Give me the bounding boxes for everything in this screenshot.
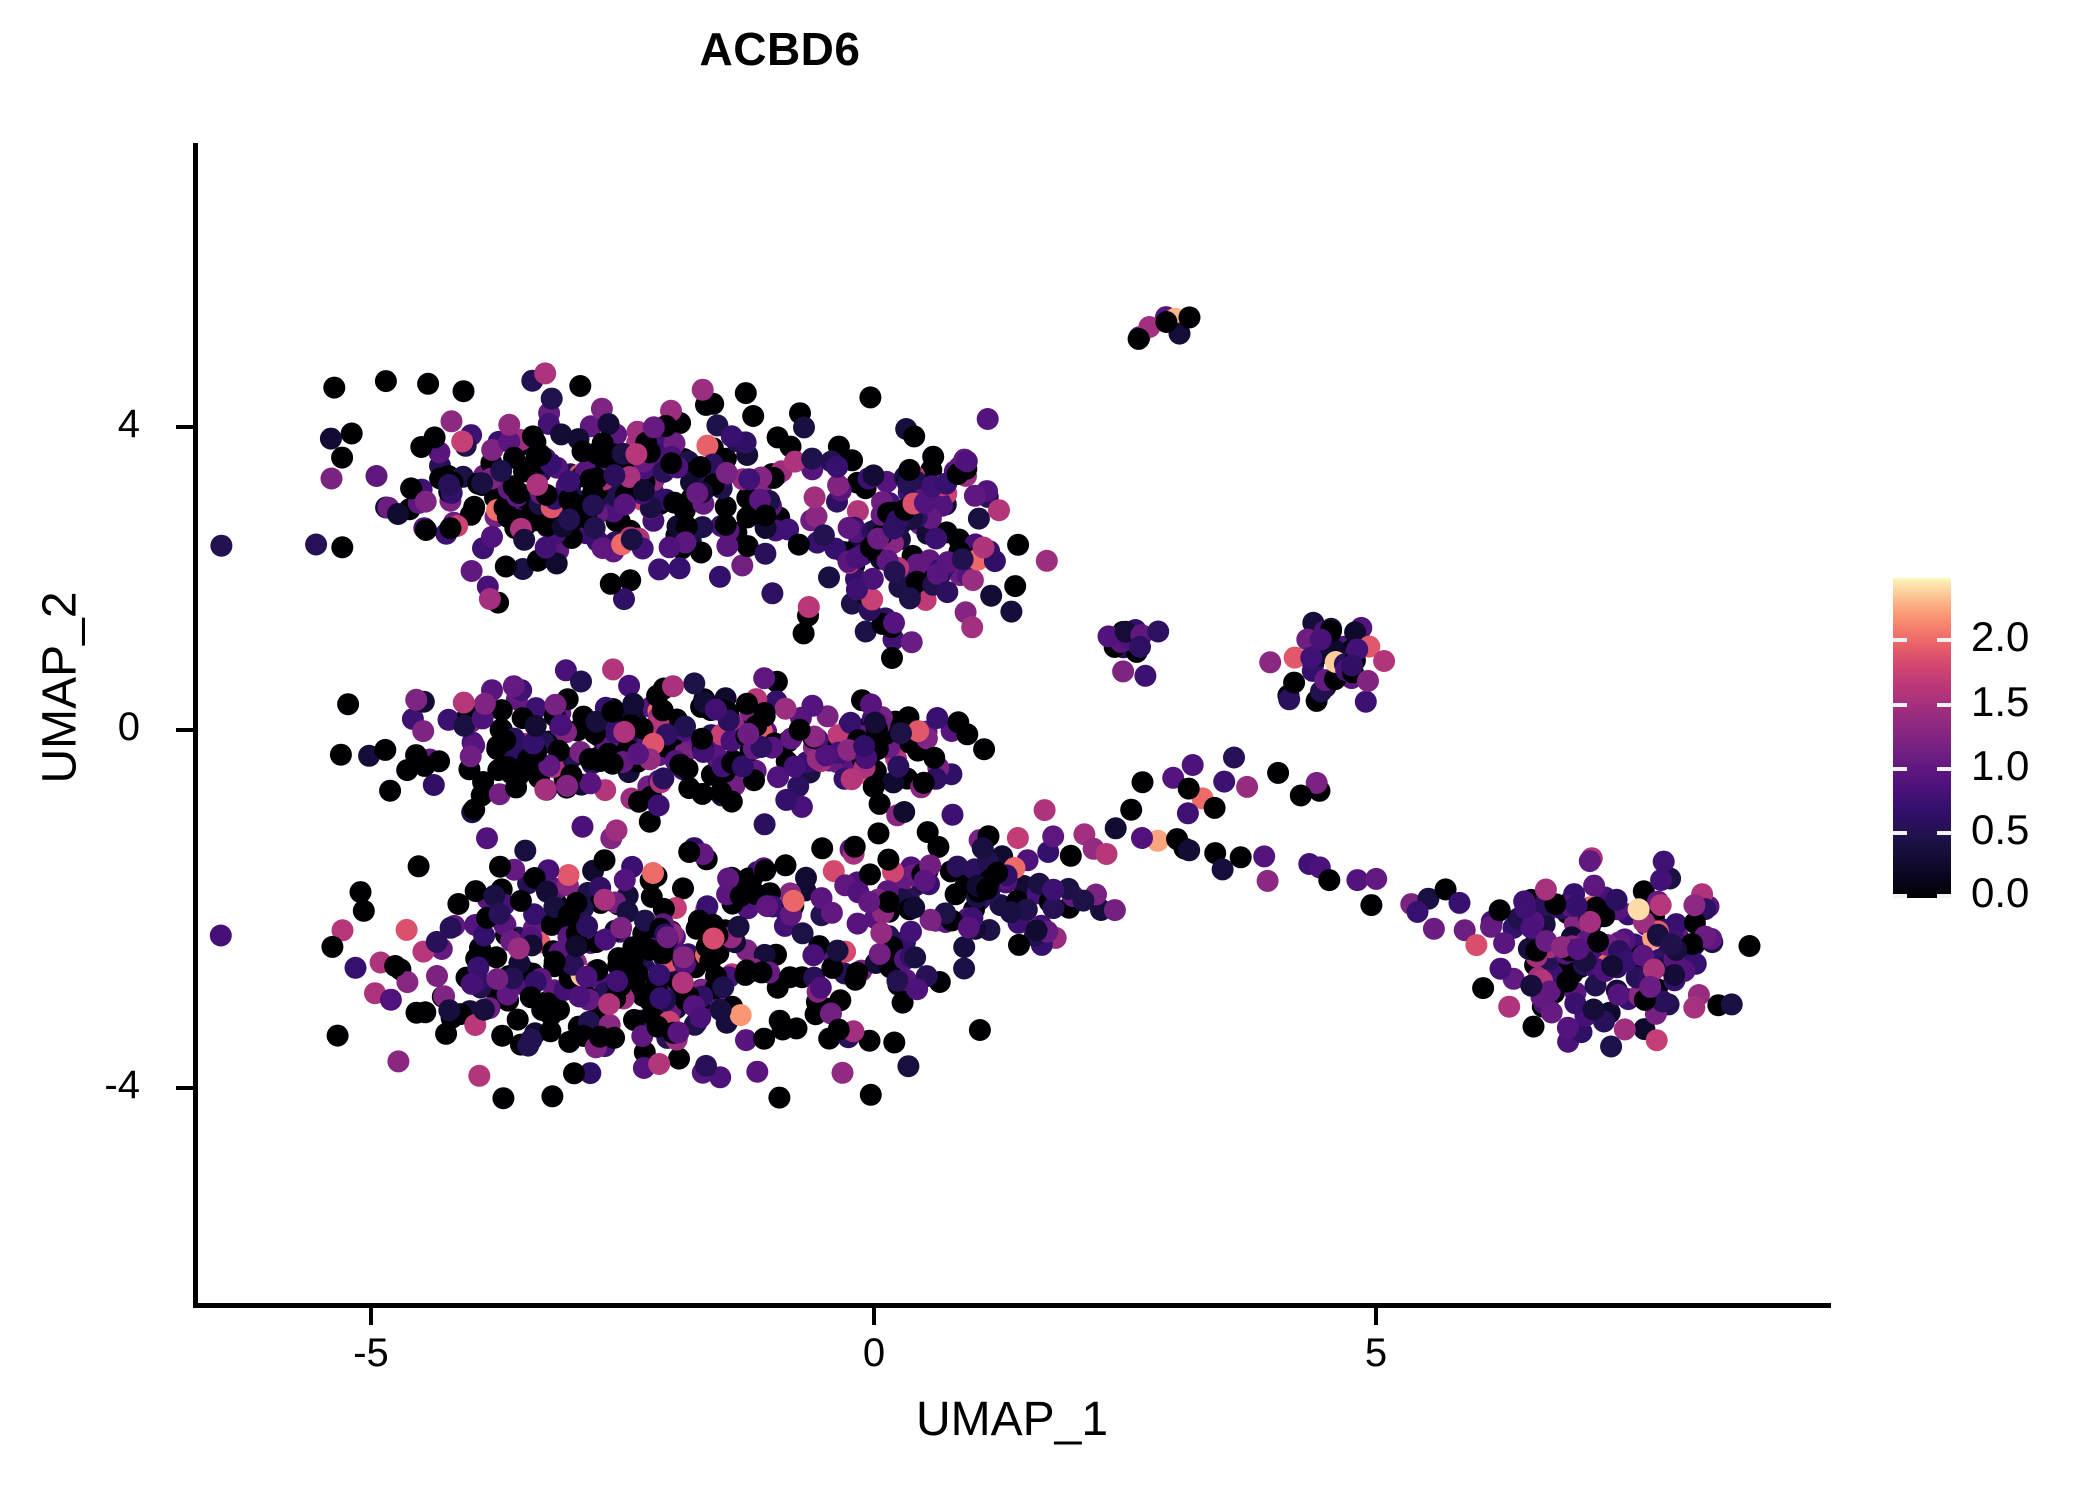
scatter-point: [941, 720, 963, 742]
scatter-point: [536, 881, 558, 903]
scatter-point: [742, 405, 764, 427]
scatter-point: [631, 977, 653, 999]
scatter-point: [846, 733, 868, 755]
scatter-point: [921, 475, 943, 497]
scatter-point: [894, 466, 916, 488]
scatter-point: [666, 709, 688, 731]
scatter-point: [674, 716, 696, 738]
scatter-point: [798, 596, 820, 618]
scatter-point: [885, 748, 907, 770]
scatter-point: [899, 732, 921, 754]
scatter-point: [865, 760, 887, 782]
scatter-point: [612, 443, 634, 465]
scatter-point: [865, 952, 887, 974]
scatter-point: [584, 476, 606, 498]
scatter-point: [883, 522, 905, 544]
scatter-point: [916, 721, 938, 743]
scatter-point: [716, 535, 738, 557]
scatter-point: [702, 437, 724, 459]
scatter-point: [635, 432, 657, 454]
scatter-point: [1037, 841, 1059, 863]
scatter-point: [441, 410, 463, 432]
scatter-point: [1518, 938, 1540, 960]
scatter-point: [641, 886, 663, 908]
scatter-point: [1635, 970, 1657, 992]
scatter-point: [469, 937, 491, 959]
scatter-point: [1558, 893, 1580, 915]
scatter-point: [594, 929, 616, 951]
scatter-point: [1739, 935, 1761, 957]
scatter-point: [665, 750, 687, 772]
scatter-point: [766, 690, 788, 712]
scatter-point: [491, 699, 513, 721]
scatter-point: [656, 1027, 678, 1049]
scatter-point: [916, 965, 938, 987]
scatter-point: [582, 495, 604, 517]
scatter-point: [662, 729, 684, 751]
scatter-point: [1561, 935, 1583, 957]
scatter-point: [1325, 651, 1347, 673]
scatter-point: [1570, 956, 1592, 978]
scatter-point: [669, 557, 691, 579]
scatter-point: [380, 989, 402, 1011]
scatter-point: [428, 750, 450, 772]
scatter-point: [919, 854, 941, 876]
scatter-point: [706, 747, 728, 769]
scatter-point: [700, 724, 722, 746]
scatter-point: [969, 1019, 991, 1041]
scatter-point: [702, 454, 724, 476]
scatter-point: [332, 919, 354, 941]
scatter-point: [977, 486, 999, 508]
colorbar-legend: 2.0 1.5 1.0 0.5 0.0: [1893, 578, 1951, 898]
scatter-point: [978, 540, 1000, 562]
scatter-point: [900, 504, 922, 526]
scatter-point: [692, 741, 714, 763]
scatter-point: [761, 582, 783, 604]
scatter-point: [911, 863, 933, 885]
scatter-point: [1192, 787, 1214, 809]
scatter-point: [426, 965, 448, 987]
scatter-point: [569, 375, 591, 397]
scatter-point: [592, 482, 614, 504]
scatter-point: [548, 740, 570, 762]
scatter-point: [845, 568, 867, 590]
scatter-point: [743, 769, 765, 791]
scatter-point: [462, 732, 484, 754]
scatter-point: [672, 972, 694, 994]
scatter-point: [617, 885, 639, 907]
scatter-point: [955, 875, 977, 897]
scatter-point: [895, 506, 917, 528]
scatter-point: [1683, 934, 1705, 956]
scatter-point: [553, 943, 575, 965]
scatter-point: [655, 489, 677, 511]
scatter-point: [737, 897, 759, 919]
scatter-point: [977, 850, 999, 872]
scatter-point: [627, 421, 649, 443]
scatter-point: [878, 901, 900, 923]
scatter-point: [595, 498, 617, 520]
scatter-point: [948, 541, 970, 563]
scatter-point: [822, 735, 844, 757]
scatter-point: [1083, 838, 1105, 860]
scatter-point: [1573, 946, 1595, 968]
scatter-point: [823, 949, 845, 971]
scatter-point: [493, 912, 515, 934]
scatter-point: [487, 592, 509, 614]
scatter-point: [863, 776, 885, 798]
scatter-point: [527, 732, 549, 754]
scatter-point: [572, 914, 594, 936]
scatter-point: [1036, 550, 1058, 572]
scatter-point: [887, 557, 909, 579]
scatter-point: [1578, 907, 1600, 929]
scatter-point: [617, 739, 639, 761]
scatter-point: [688, 910, 710, 932]
scatter-point: [1523, 1016, 1545, 1038]
scatter-point: [736, 444, 758, 466]
scatter-point: [575, 964, 597, 986]
scatter-point: [1658, 993, 1680, 1015]
scatter-point: [558, 1031, 580, 1053]
scatter-point: [543, 896, 565, 918]
scatter-point: [1129, 636, 1151, 658]
scatter-point: [749, 489, 771, 511]
scatter-point: [1668, 942, 1690, 964]
scatter-point: [834, 941, 856, 963]
scatter-point: [789, 402, 811, 424]
scatter-point: [1340, 640, 1362, 662]
scatter-point: [1028, 873, 1050, 895]
scatter-point: [538, 992, 560, 1014]
scatter-point: [707, 942, 729, 964]
scatter-point: [502, 505, 524, 527]
scatter-point: [605, 510, 627, 532]
scatter-point: [1454, 919, 1476, 941]
scatter-point: [1138, 316, 1160, 338]
scatter-point: [625, 734, 647, 756]
scatter-point: [878, 736, 900, 758]
scatter-point: [818, 566, 840, 588]
scatter-point: [1493, 932, 1515, 954]
scatter-point: [1314, 669, 1336, 691]
scatter-point: [876, 471, 898, 493]
scatter-point: [858, 467, 880, 489]
scatter-point: [633, 471, 655, 493]
scatter-point: [424, 426, 446, 448]
scatter-point: [864, 736, 886, 758]
scatter-point: [660, 920, 682, 942]
scatter-point: [761, 463, 783, 485]
scatter-point: [1673, 960, 1695, 982]
scatter-point: [680, 738, 702, 760]
scatter-point: [646, 865, 668, 887]
scatter-point: [1342, 661, 1364, 683]
scatter-point: [1634, 989, 1656, 1011]
scatter-point: [565, 952, 587, 974]
scatter-point: [872, 902, 894, 924]
scatter-point: [893, 869, 915, 891]
scatter-point: [803, 736, 825, 758]
scatter-point: [675, 989, 697, 1011]
scatter-point: [1030, 915, 1052, 937]
scatter-point: [1591, 933, 1613, 955]
scatter-point: [1524, 954, 1546, 976]
scatter-point: [1024, 925, 1046, 947]
scatter-point: [545, 694, 567, 716]
scatter-point: [548, 492, 570, 514]
scatter-point: [595, 697, 617, 719]
scatter-point: [491, 878, 513, 900]
scatter-point: [541, 914, 563, 936]
scatter-point: [755, 721, 777, 743]
scatter-point: [575, 917, 597, 939]
scatter-point: [573, 964, 595, 986]
scatter-point: [616, 713, 638, 735]
scatter-point: [645, 937, 667, 959]
scatter-point: [931, 495, 953, 517]
scatter-point: [497, 984, 519, 1006]
scatter-point: [1594, 887, 1616, 909]
scatter-point: [471, 472, 493, 494]
scatter-point: [581, 753, 603, 775]
scatter-point: [745, 715, 767, 737]
scatter-point: [639, 748, 661, 770]
scatter-point: [846, 763, 868, 785]
scatter-point: [647, 938, 669, 960]
scatter-point: [634, 958, 656, 980]
scatter-point: [686, 459, 708, 481]
scatter-point: [855, 584, 877, 606]
scatter-point: [964, 918, 986, 940]
scatter-point: [582, 482, 604, 504]
scatter-point: [692, 737, 714, 759]
scatter-point: [584, 517, 606, 539]
scatter-point: [823, 860, 845, 882]
scatter-point: [913, 723, 935, 745]
scatter-point: [406, 1002, 428, 1024]
scatter-point: [914, 870, 936, 892]
scatter-point: [639, 988, 661, 1010]
scatter-point: [806, 991, 828, 1013]
scatter-point: [494, 497, 516, 519]
scatter-point: [596, 734, 618, 756]
scatter-point: [806, 728, 828, 750]
scatter-point: [1633, 911, 1655, 933]
scatter-point: [471, 474, 493, 496]
scatter-point: [1633, 971, 1655, 993]
scatter-point: [1587, 931, 1609, 953]
scatter-point: [520, 1029, 542, 1051]
scatter-point: [666, 1029, 688, 1051]
scatter-point: [387, 503, 409, 525]
scatter-point: [1660, 934, 1682, 956]
scatter-point: [447, 893, 469, 915]
scatter-point: [962, 569, 984, 591]
scatter-point: [740, 869, 762, 891]
scatter-point: [1007, 534, 1029, 556]
scatter-point: [451, 431, 473, 453]
scatter-point: [717, 702, 739, 724]
scatter-point: [763, 467, 785, 489]
scatter-point: [573, 502, 595, 524]
scatter-point: [610, 486, 632, 508]
scatter-point: [477, 576, 499, 598]
scatter-point: [966, 887, 988, 909]
scatter-point: [1532, 996, 1554, 1018]
scatter-point: [736, 939, 758, 961]
scatter-point: [801, 458, 823, 480]
scatter-point: [1128, 328, 1150, 350]
scatter-point: [689, 456, 711, 478]
scatter-point: [953, 449, 975, 471]
scatter-point: [750, 478, 772, 500]
scatter-point: [537, 859, 559, 881]
scatter-point: [718, 709, 740, 731]
scatter-point: [891, 889, 913, 911]
scatter-point: [695, 944, 717, 966]
scatter-point: [779, 754, 801, 776]
scatter-point: [642, 480, 664, 502]
scatter-point: [810, 750, 832, 772]
scatter-point: [467, 957, 489, 979]
scatter-point: [843, 517, 865, 539]
scatter-point: [1096, 843, 1118, 865]
scatter-point: [502, 967, 524, 989]
scatter-point: [575, 522, 597, 544]
scatter-point: [881, 647, 903, 669]
y-axis-title: UMAP_2: [33, 338, 88, 1038]
scatter-point: [883, 518, 905, 540]
scatter-point: [817, 705, 839, 727]
scatter-point: [472, 537, 494, 559]
scatter-point: [589, 750, 611, 772]
scatter-point: [558, 904, 580, 926]
scatter-point: [692, 1062, 714, 1084]
scatter-point: [337, 693, 359, 715]
scatter-point: [534, 448, 556, 470]
scatter-point: [760, 495, 782, 517]
scatter-point: [777, 731, 799, 753]
scatter-point: [882, 861, 904, 883]
scatter-point: [1574, 1005, 1596, 1027]
scatter-point: [657, 928, 679, 950]
scatter-point: [877, 550, 899, 572]
scatter-point: [1694, 898, 1716, 920]
scatter-point: [973, 537, 995, 559]
scatter-point: [672, 758, 694, 780]
scatter-point: [1639, 976, 1661, 998]
scatter-point: [400, 477, 422, 499]
scatter-point: [512, 558, 534, 580]
scatter-point: [550, 423, 572, 445]
scatter-point: [828, 1019, 850, 1041]
scatter-point: [827, 940, 849, 962]
scatter-point: [737, 535, 759, 557]
scatter-point: [1607, 898, 1629, 920]
scatter-point: [957, 907, 979, 929]
scatter-point: [710, 515, 732, 537]
scatter-point: [1586, 958, 1608, 980]
scatter-point: [521, 433, 543, 455]
scatter-point: [586, 479, 608, 501]
scatter-point: [642, 745, 664, 767]
scatter-point: [952, 548, 974, 570]
scatter-point: [776, 750, 798, 772]
scatter-point: [824, 538, 846, 560]
scatter-point: [646, 685, 668, 707]
scatter-point: [598, 413, 620, 435]
scatter-point: [602, 540, 624, 562]
scatter-point: [668, 1048, 690, 1070]
scatter-point: [871, 524, 893, 546]
scatter-point: [412, 941, 434, 963]
scatter-point: [554, 979, 576, 1001]
scatter-point: [907, 491, 929, 513]
scatter-point: [1346, 869, 1368, 891]
scatter-point: [1583, 875, 1605, 897]
scatter-point: [613, 484, 635, 506]
scatter-point: [855, 762, 877, 784]
scatter-point: [620, 788, 642, 810]
scatter-point: [520, 927, 542, 949]
scatter-point: [1628, 985, 1650, 1007]
scatter-point: [841, 449, 863, 471]
scatter-point: [1543, 982, 1565, 1004]
scatter-point: [818, 998, 840, 1020]
scatter-point: [598, 993, 620, 1015]
scatter-point: [648, 558, 670, 580]
scatter-point: [1344, 621, 1366, 643]
scatter-point: [1223, 747, 1245, 769]
scatter-point: [692, 843, 714, 865]
scatter-point: [690, 542, 712, 564]
scatter-point: [580, 415, 602, 437]
scatter-point: [611, 983, 633, 1005]
colorbar-label-1-0: 1.0: [1971, 745, 2100, 787]
scatter-point: [843, 1020, 865, 1042]
scatter-point: [621, 856, 643, 878]
scatter-point: [525, 741, 547, 763]
scatter-point: [653, 947, 675, 969]
scatter-point: [678, 841, 700, 863]
scatter-point: [598, 743, 620, 765]
scatter-point: [1688, 984, 1710, 1006]
scatter-point: [899, 587, 921, 609]
scatter-point: [927, 757, 949, 779]
scatter-point: [562, 954, 584, 976]
scatter-point: [827, 474, 849, 496]
scatter-point: [721, 996, 743, 1018]
scatter-point: [758, 962, 780, 984]
scatter-point: [964, 485, 986, 507]
scatter-point: [527, 550, 549, 572]
scatter-point: [714, 761, 736, 783]
scatter-point: [1663, 964, 1685, 986]
scatter-point: [722, 749, 744, 771]
scatter-point: [919, 568, 941, 590]
scatter-point: [930, 492, 952, 514]
scatter-point: [656, 454, 678, 476]
scatter-point: [1594, 934, 1616, 956]
scatter-point: [1267, 762, 1289, 784]
scatter-point: [780, 728, 802, 750]
scatter-point: [648, 744, 670, 766]
scatter-point: [572, 897, 594, 919]
scatter-point: [485, 946, 507, 968]
scatter-point: [1550, 961, 1572, 983]
